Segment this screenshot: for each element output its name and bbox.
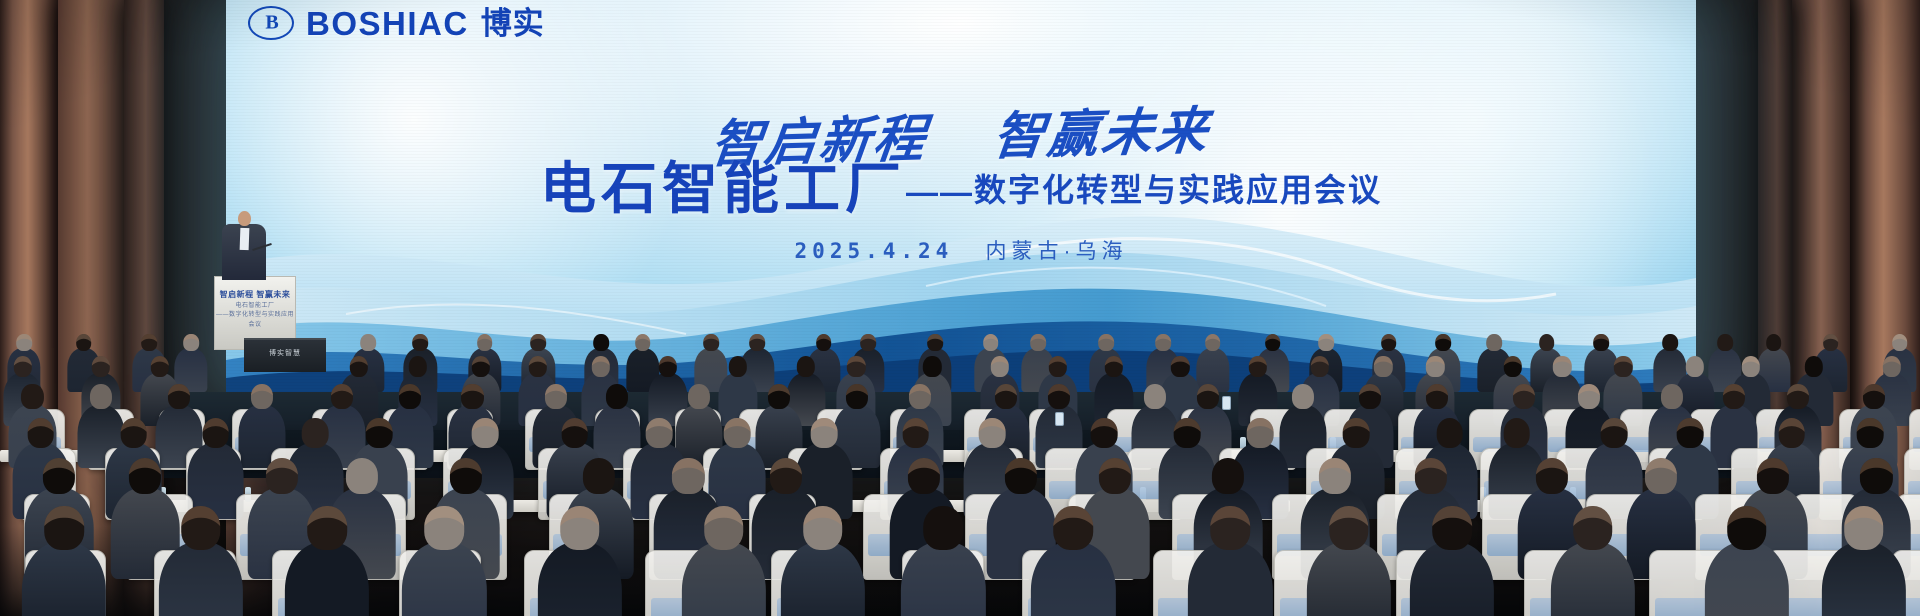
audience-head — [1319, 458, 1351, 494]
audience-head — [592, 356, 610, 377]
audience-head — [168, 384, 190, 409]
conference-title: 电石智能工厂 — [540, 160, 906, 219]
audience-member — [21, 506, 107, 616]
title-dash: —— — [906, 174, 974, 219]
audience-head — [1105, 356, 1123, 377]
audience-head — [129, 458, 161, 494]
audience-member — [284, 506, 370, 616]
attendee-phone — [1055, 412, 1064, 426]
audience-head — [366, 418, 393, 448]
audience-member — [681, 506, 767, 616]
audience-head — [1414, 458, 1446, 494]
audience-head — [1432, 506, 1472, 550]
audience-member — [1821, 506, 1907, 616]
audience-head — [1144, 384, 1166, 409]
screen-title-row: 电石智能工厂 —— 数字化转型与实践应用会议 — [226, 160, 1696, 219]
audience-head — [750, 334, 766, 351]
audience-head — [76, 334, 92, 351]
audience-torso — [1307, 542, 1391, 616]
audience-head — [409, 356, 427, 377]
audience-head — [529, 356, 547, 377]
conference-date: 2025.4.24 — [795, 239, 954, 263]
audience-head — [1723, 384, 1745, 409]
audience-head — [399, 384, 421, 409]
audience-head — [471, 356, 489, 377]
audience-head — [1757, 458, 1789, 494]
audience-member — [537, 506, 623, 616]
conference-location: 内蒙古·乌海 — [985, 240, 1127, 263]
audience-head — [90, 384, 112, 409]
audience-head — [1645, 458, 1677, 494]
audience-torso — [402, 542, 486, 616]
audience-head — [266, 458, 298, 494]
audience-head — [181, 506, 221, 550]
audience-head — [583, 458, 615, 494]
audience-head — [1536, 458, 1568, 494]
audience-head — [1091, 418, 1118, 448]
audience-head — [1882, 356, 1900, 377]
audience-head — [1249, 356, 1267, 377]
audience-head — [1787, 384, 1809, 409]
audience-head — [360, 334, 376, 351]
audience-head — [1048, 384, 1070, 409]
audience-torso — [901, 542, 985, 616]
speaker-head — [238, 211, 251, 226]
audience-head — [346, 458, 378, 494]
audience-head — [477, 334, 493, 351]
audience-head — [846, 384, 868, 409]
audience-head — [927, 334, 943, 351]
audience-head — [92, 356, 110, 377]
audience-head — [1343, 418, 1370, 448]
audience-head — [979, 418, 1006, 448]
audience-torso — [780, 542, 864, 616]
audience-head — [847, 356, 865, 377]
audience-head — [183, 334, 199, 351]
audience-head — [1844, 506, 1884, 550]
audience-head — [1742, 356, 1760, 377]
audience-head — [1857, 418, 1884, 448]
audience-head — [1098, 334, 1114, 351]
audience-head — [1685, 356, 1703, 377]
audience-head — [1436, 418, 1463, 448]
audience-head — [1661, 384, 1683, 409]
audience-head — [1292, 384, 1314, 409]
audience-head — [1860, 458, 1892, 494]
audience-head — [1504, 356, 1522, 377]
audience-head — [531, 334, 547, 351]
audience-head — [703, 334, 719, 351]
audience-head — [923, 356, 941, 377]
audience-head — [646, 418, 673, 448]
audience-torso — [285, 542, 369, 616]
audience-head — [43, 458, 75, 494]
audience-head — [1677, 418, 1704, 448]
audience-head — [1594, 334, 1610, 351]
audience-head — [983, 334, 999, 351]
audience-member — [158, 506, 244, 616]
audience-head — [1513, 384, 1535, 409]
audience-member — [401, 506, 487, 616]
audience-head — [1311, 356, 1329, 377]
audience-head — [1359, 384, 1381, 409]
audience-head — [1892, 334, 1908, 351]
audience-head — [1539, 334, 1555, 351]
calligraphy-right: 智赢未来 — [990, 104, 1213, 166]
audience-torso — [1188, 542, 1272, 616]
audience-head — [545, 384, 567, 409]
audience-head — [561, 418, 588, 448]
audience-head — [688, 384, 710, 409]
boshiac-logo: B BOSHIAC 博实 — [248, 6, 545, 40]
audience-head — [1662, 334, 1678, 351]
audience-head — [331, 384, 353, 409]
audience-head — [1823, 334, 1839, 351]
audience-member — [1187, 506, 1273, 616]
audience-torso — [1822, 542, 1906, 616]
screen-meta-row: 2025.4.24 内蒙古·乌海 — [226, 235, 1696, 265]
audience-head — [909, 384, 931, 409]
audience-head — [1727, 506, 1767, 550]
speaker-shirt — [240, 228, 250, 250]
audience-head — [770, 458, 802, 494]
audience-member — [1704, 506, 1790, 616]
audience-member — [1409, 506, 1495, 616]
audience-head — [1210, 506, 1250, 550]
audience-head — [659, 356, 677, 377]
logo-glyph: B — [265, 12, 276, 35]
audience-torso — [22, 542, 106, 616]
audience-torso — [159, 542, 243, 616]
audience-head — [672, 458, 704, 494]
audience-torso — [1551, 542, 1635, 616]
audience-torso — [537, 542, 621, 616]
audience-head — [1005, 458, 1037, 494]
audience-head — [860, 334, 876, 351]
audience-member — [900, 506, 986, 616]
audience-head — [202, 418, 229, 448]
calligraphy-gap — [941, 155, 975, 156]
audience-head — [251, 384, 273, 409]
audience-head — [1318, 334, 1334, 351]
audience-head — [1374, 356, 1392, 377]
audience-head — [1030, 334, 1046, 351]
audience-head — [1717, 334, 1733, 351]
conference-subtitle: 数字化转型与实践应用会议 — [974, 165, 1382, 219]
audience-head — [1099, 458, 1131, 494]
audience-head — [797, 356, 815, 377]
audience-head — [606, 384, 628, 409]
audience-head — [1486, 334, 1502, 351]
boshiac-mark-icon: B — [248, 6, 294, 40]
audience-torso — [681, 542, 765, 616]
audience-head — [142, 334, 158, 351]
audience-head — [44, 506, 84, 550]
audience-head — [307, 506, 347, 550]
audience-head — [1049, 356, 1067, 377]
audience-head — [1503, 418, 1530, 448]
audience-head — [1863, 384, 1885, 409]
audience-head — [560, 506, 600, 550]
audience-head — [120, 418, 147, 448]
audience-head — [1155, 334, 1171, 351]
audience-head — [902, 418, 929, 448]
audience-head — [302, 418, 329, 448]
audience-head — [1265, 334, 1281, 351]
audience-torso — [1704, 542, 1788, 616]
audience-torso — [1031, 542, 1115, 616]
audience-head — [995, 384, 1017, 409]
audience-head — [349, 356, 367, 377]
audience-head — [461, 384, 483, 409]
audience-head — [803, 506, 843, 550]
audience-head — [990, 356, 1008, 377]
audience-head — [150, 356, 168, 377]
audience-head — [1778, 418, 1805, 448]
logo-wordmark: BOSHIAC — [306, 7, 469, 40]
audience-head — [908, 458, 940, 494]
audience-head — [924, 506, 964, 550]
audience-head — [816, 334, 832, 351]
audience-head — [450, 458, 482, 494]
audience-head — [1171, 356, 1189, 377]
podium-brand-line: 智启新程 智赢未来 — [220, 290, 291, 299]
audience-member — [780, 506, 866, 616]
audience-head — [1578, 384, 1600, 409]
audience-head — [472, 418, 499, 448]
audience-head — [425, 506, 465, 550]
attendee-phone — [1222, 396, 1231, 410]
audience-head — [724, 418, 751, 448]
audience-head — [1766, 334, 1782, 351]
audience-head — [1436, 334, 1452, 351]
audience-head — [1205, 334, 1221, 351]
audience-head — [1212, 458, 1244, 494]
audience-head — [768, 384, 790, 409]
audience-head — [635, 334, 651, 351]
audience-head — [1553, 356, 1571, 377]
audience-head — [27, 418, 54, 448]
audience-head — [1601, 418, 1628, 448]
audience-head — [811, 418, 838, 448]
audience-head — [1426, 384, 1448, 409]
audience-head — [1053, 506, 1093, 550]
audience-head — [21, 384, 43, 409]
audience-head — [1197, 384, 1219, 409]
audience-torso — [1410, 542, 1494, 616]
audience-head — [1426, 356, 1444, 377]
audience-head — [1381, 334, 1397, 351]
audience-head — [1614, 356, 1632, 377]
audience-head — [14, 356, 32, 377]
audience-head — [1573, 506, 1613, 550]
audience-member — [1550, 506, 1636, 616]
audience-head — [593, 334, 609, 351]
audience-head — [729, 356, 747, 377]
audience-member — [1030, 506, 1116, 616]
audience-head — [16, 334, 32, 351]
audience-head — [1174, 418, 1201, 448]
audience-area — [0, 300, 1920, 616]
audience-member — [1306, 506, 1392, 616]
audience-head — [412, 334, 428, 351]
audience-head — [704, 506, 744, 550]
audience-head — [1805, 356, 1823, 377]
audience-head — [1247, 418, 1274, 448]
audience-head — [1329, 506, 1369, 550]
logo-chinese: 博实 — [481, 8, 545, 39]
conference-hall-scene: 智启新程 智赢未来 电石智能工厂 —— 数字化转型与实践应用会议 2025.4.… — [0, 0, 1920, 616]
